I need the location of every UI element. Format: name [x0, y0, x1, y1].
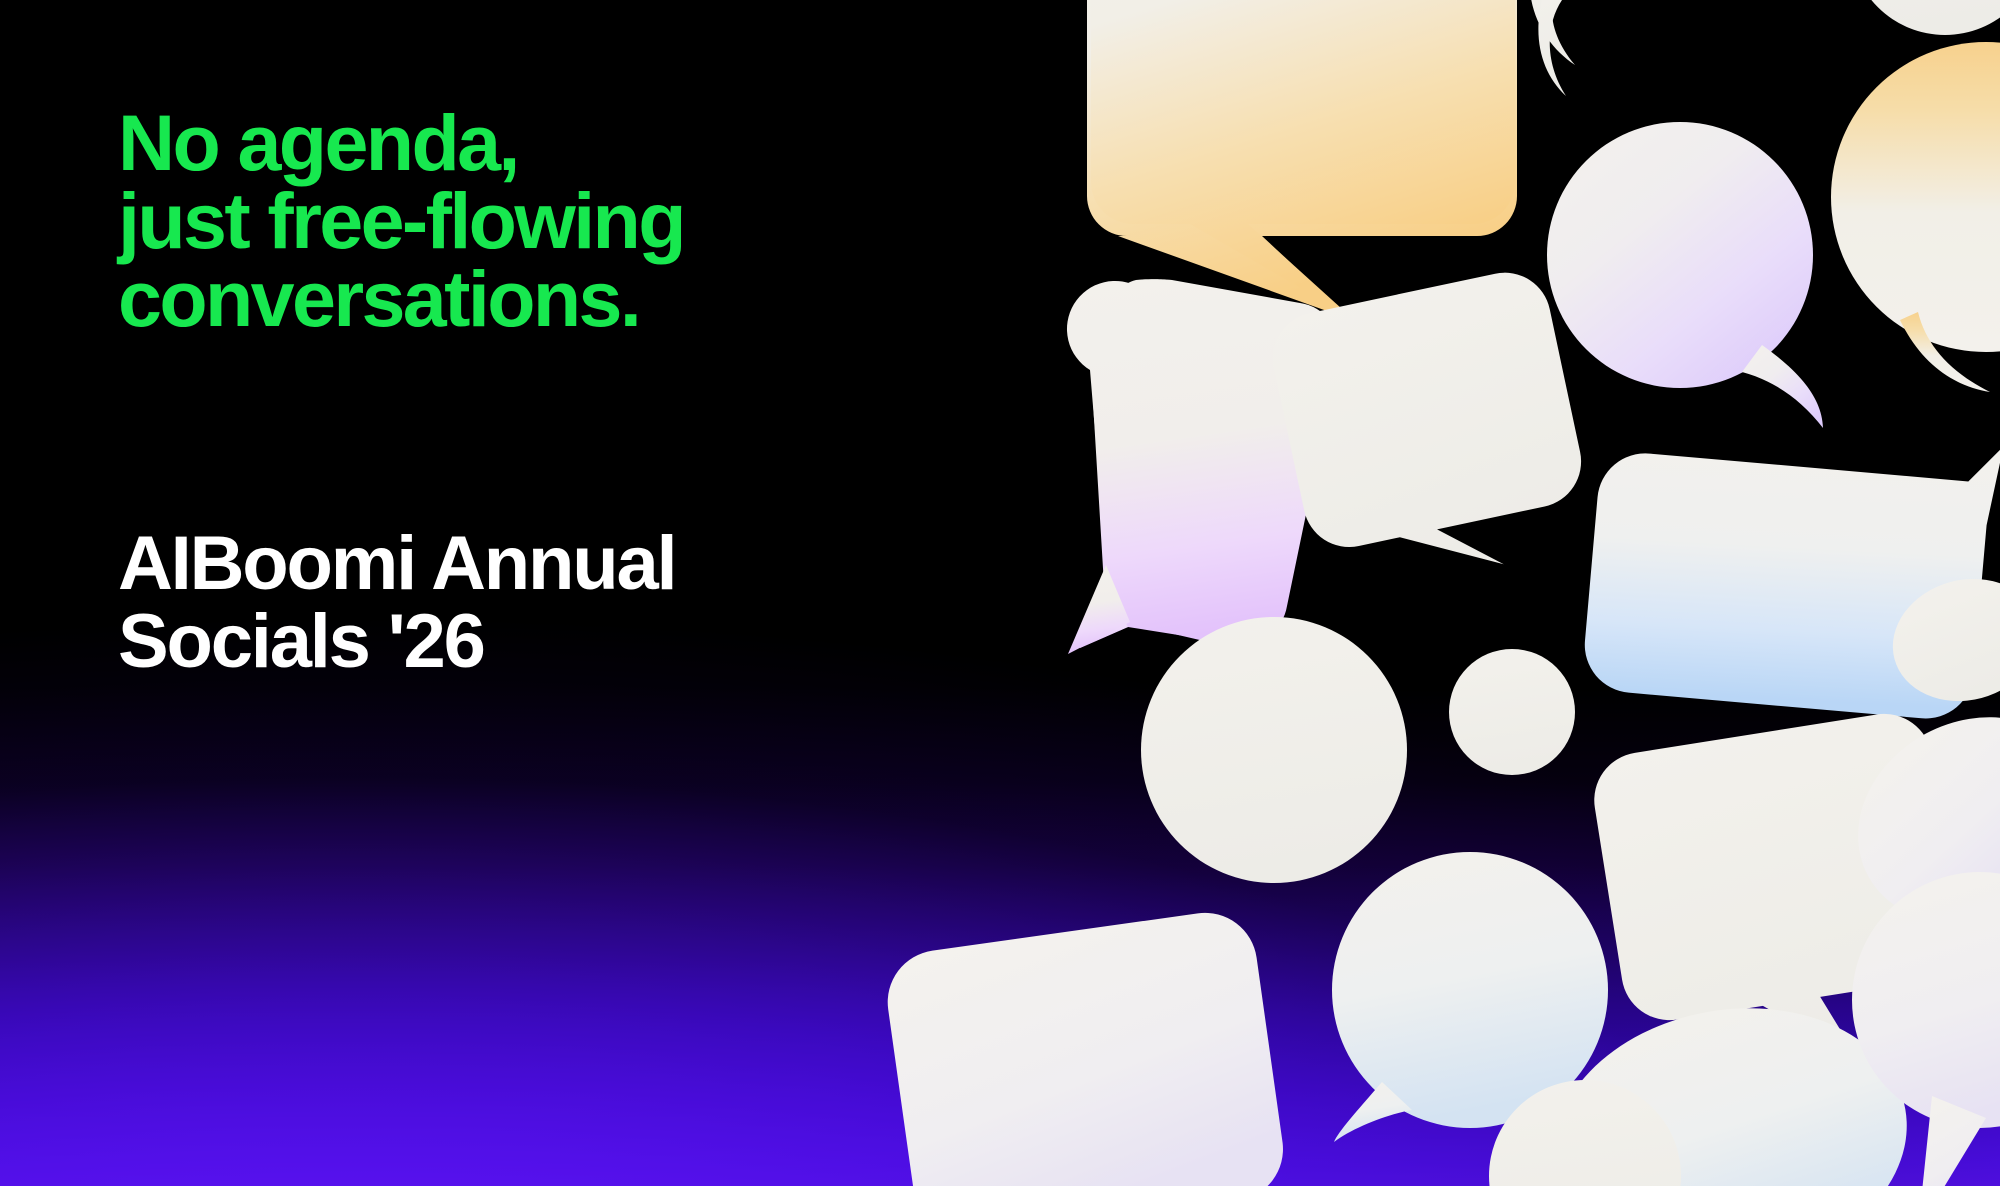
title-block: AIBoomi Annual Socials '26: [118, 525, 938, 682]
text-column: No agenda, just free-flowing conversatio…: [118, 104, 938, 681]
poster-canvas: No agenda, just free-flowing conversatio…: [0, 0, 2000, 1186]
eyebrow-headline: No agenda, just free-flowing conversatio…: [118, 104, 938, 339]
page-title: AIBoomi Annual Socials '26: [118, 525, 938, 682]
